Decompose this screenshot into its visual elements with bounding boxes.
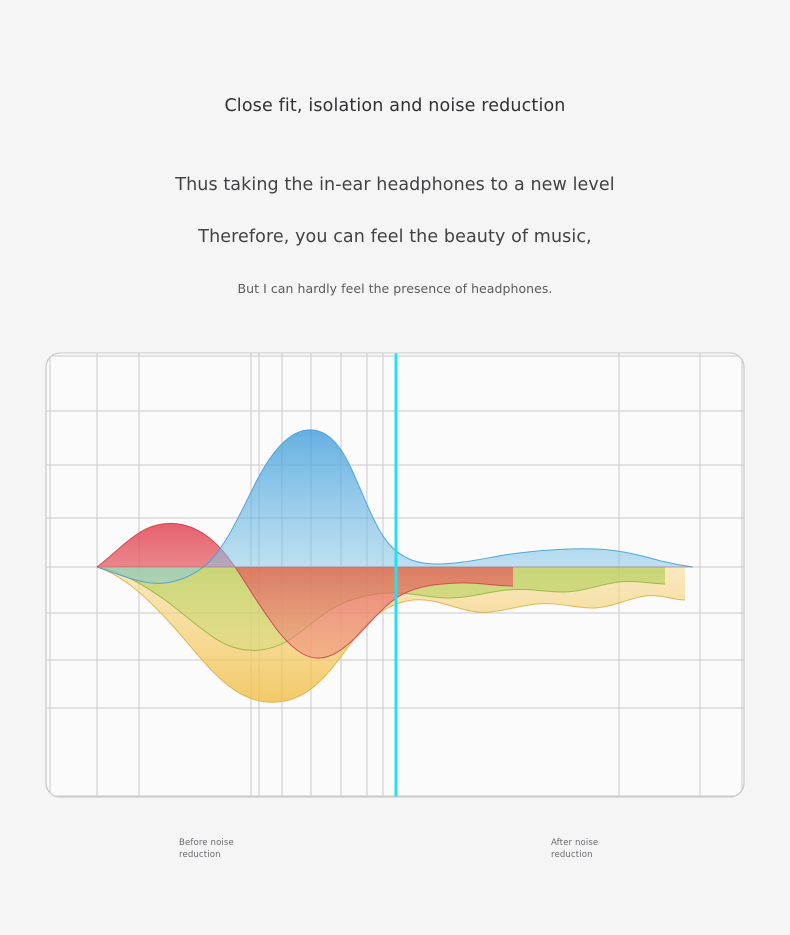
subheading-level: Thus taking the in-ear headphones to a n… xyxy=(0,175,790,195)
chart-canvas xyxy=(45,352,745,798)
label-after-noise-reduction: After noise reduction xyxy=(551,838,598,861)
product-feature-page: Close fit, isolation and noise reduction… xyxy=(0,0,790,935)
page-title: Close fit, isolation and noise reduction xyxy=(0,96,790,116)
supporting-caption: But I can hardly feel the presence of he… xyxy=(0,281,790,296)
subheading-beauty: Therefore, you can feel the beauty of mu… xyxy=(0,227,790,247)
noise-reduction-chart xyxy=(45,352,745,798)
label-before-noise-reduction: Before noise reduction xyxy=(179,838,234,861)
